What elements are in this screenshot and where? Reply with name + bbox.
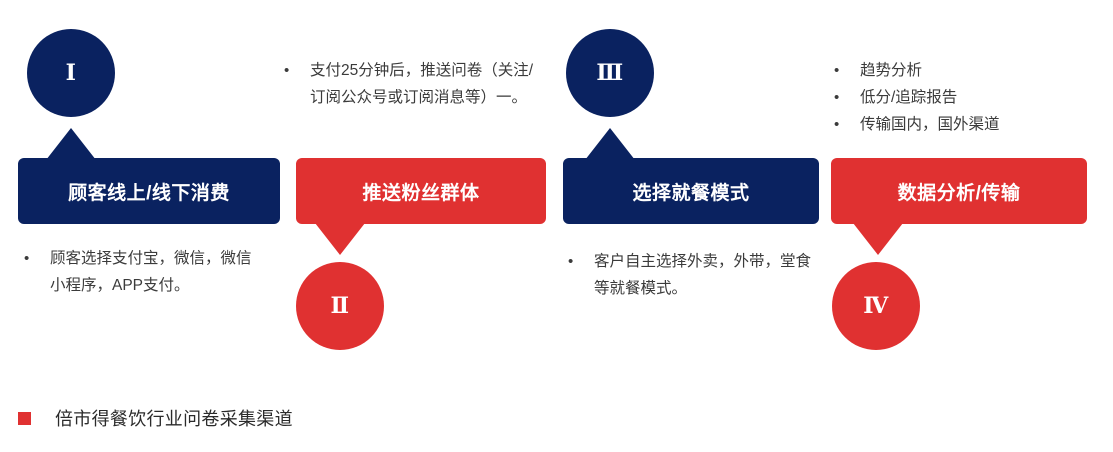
step-banner-label-2: 推送粉丝群体 (362, 178, 479, 205)
step-notes-4: 趋势分析 低分/追踪报告 传输国内，国外渠道 (826, 57, 1102, 138)
step-numeral-2: Ⅱ (330, 293, 349, 319)
footer-caption: 倍市得餐饮行业问卷采集渠道 (18, 405, 293, 431)
note-item: 客户自主选择外卖，外带，堂食等就餐模式。 (560, 248, 822, 302)
step-banner-2[interactable]: 推送粉丝群体 (296, 158, 546, 224)
step-numeral-3: Ⅲ (596, 60, 623, 86)
step-banner-label-4: 数据分析/传输 (898, 178, 1021, 205)
note-item: 顾客选择支付宝，微信，微信小程序，APP支付。 (16, 245, 266, 299)
step-circle-2: Ⅱ (296, 262, 384, 350)
step-banner-3[interactable]: 选择就餐模式 (563, 158, 819, 224)
step-banner-label-3: 选择就餐模式 (632, 178, 749, 205)
step-notes-1: 顾客选择支付宝，微信，微信小程序，APP支付。 (16, 245, 266, 299)
infographic-canvas: Ⅰ 顾客线上/线下消费 顾客选择支付宝，微信，微信小程序，APP支付。 支付25… (0, 0, 1113, 452)
note-item: 趋势分析 (826, 57, 1102, 84)
step-notch-3 (585, 128, 635, 160)
footer-label: 倍市得餐饮行业问卷采集渠道 (55, 405, 293, 431)
step-notch-2 (315, 223, 365, 255)
step-numeral-1: Ⅰ (66, 60, 77, 86)
step-notes-2: 支付25分钟后，推送问卷（关注/订阅公众号或订阅消息等）一。 (276, 57, 548, 111)
step-notch-4 (853, 223, 903, 255)
step-banner-label-1: 顾客线上/线下消费 (68, 178, 230, 205)
step-banner-4[interactable]: 数据分析/传输 (831, 158, 1087, 224)
step-circle-1: Ⅰ (27, 29, 115, 117)
note-item: 传输国内，国外渠道 (826, 111, 1102, 138)
step-banner-1[interactable]: 顾客线上/线下消费 (18, 158, 280, 224)
note-item: 支付25分钟后，推送问卷（关注/订阅公众号或订阅消息等）一。 (276, 57, 548, 111)
square-bullet-icon (18, 412, 31, 425)
step-circle-4: Ⅳ (832, 262, 920, 350)
note-item: 低分/追踪报告 (826, 84, 1102, 111)
step-numeral-4: Ⅳ (863, 293, 888, 319)
step-notch-1 (46, 128, 96, 160)
step-notes-3: 客户自主选择外卖，外带，堂食等就餐模式。 (560, 248, 822, 302)
step-circle-3: Ⅲ (566, 29, 654, 117)
